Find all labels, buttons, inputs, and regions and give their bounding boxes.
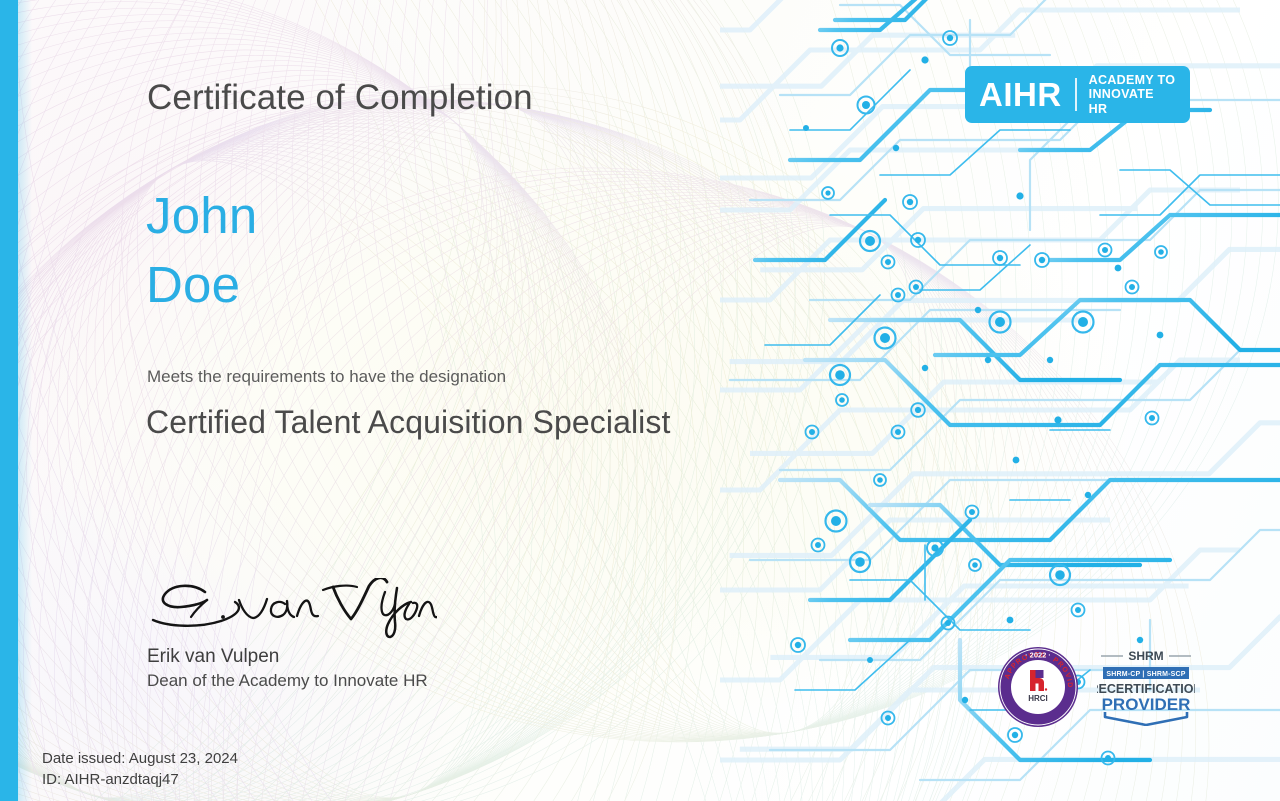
signature-block bbox=[147, 578, 437, 640]
aihr-tagline: ACADEMY TO INNOVATE HR bbox=[1089, 73, 1176, 117]
signature-icon bbox=[147, 578, 437, 640]
signer-name: Erik van Vulpen bbox=[147, 646, 279, 668]
certificate-id: ID: AIHR-anzdtaqj47 bbox=[42, 769, 238, 790]
logo-divider bbox=[1075, 78, 1077, 111]
recipient-name: John Doe bbox=[146, 181, 257, 319]
shrm-line2: PROVIDER bbox=[1102, 695, 1191, 714]
recipient-first-name: John bbox=[146, 181, 257, 250]
certificate-metadata: Date issued: August 23, 2024 ID: AIHR-an… bbox=[42, 748, 238, 790]
shrm-recertification-provider-badge: SHRM SHRM-CP | SHRM-SCP RECERTIFICATION … bbox=[1097, 646, 1195, 726]
hrci-approved-provider-badge: APPROVED PROVIDER · 2022 · HRCI.ORG HRCI bbox=[997, 646, 1079, 728]
aihr-wordmark: AIHR bbox=[979, 78, 1062, 111]
signer-role: Dean of the Academy to Innovate HR bbox=[147, 671, 428, 691]
shrm-credentials: SHRM-CP | SHRM-SCP bbox=[1106, 671, 1185, 678]
aihr-tagline-line2: INNOVATE HR bbox=[1089, 87, 1176, 116]
recipient-last-name: Doe bbox=[146, 250, 257, 319]
hrci-name: HRCI bbox=[1028, 694, 1048, 703]
date-issued: Date issued: August 23, 2024 bbox=[42, 748, 238, 769]
hrci-year: · 2022 · bbox=[1025, 651, 1051, 660]
shrm-org: SHRM bbox=[1128, 649, 1163, 663]
designation-lead-text: Meets the requirements to have the desig… bbox=[147, 367, 506, 387]
designation-title: Certified Talent Acquisition Specialist bbox=[146, 404, 670, 441]
aihr-tagline-line1: ACADEMY TO bbox=[1089, 73, 1176, 88]
certificate-canvas: Certificate of Completion John Doe Meets… bbox=[0, 0, 1280, 801]
shrm-line1: RECERTIFICATION bbox=[1097, 682, 1195, 696]
page-title: Certificate of Completion bbox=[147, 78, 533, 118]
aihr-logo: AIHR ACADEMY TO INNOVATE HR bbox=[965, 66, 1190, 123]
